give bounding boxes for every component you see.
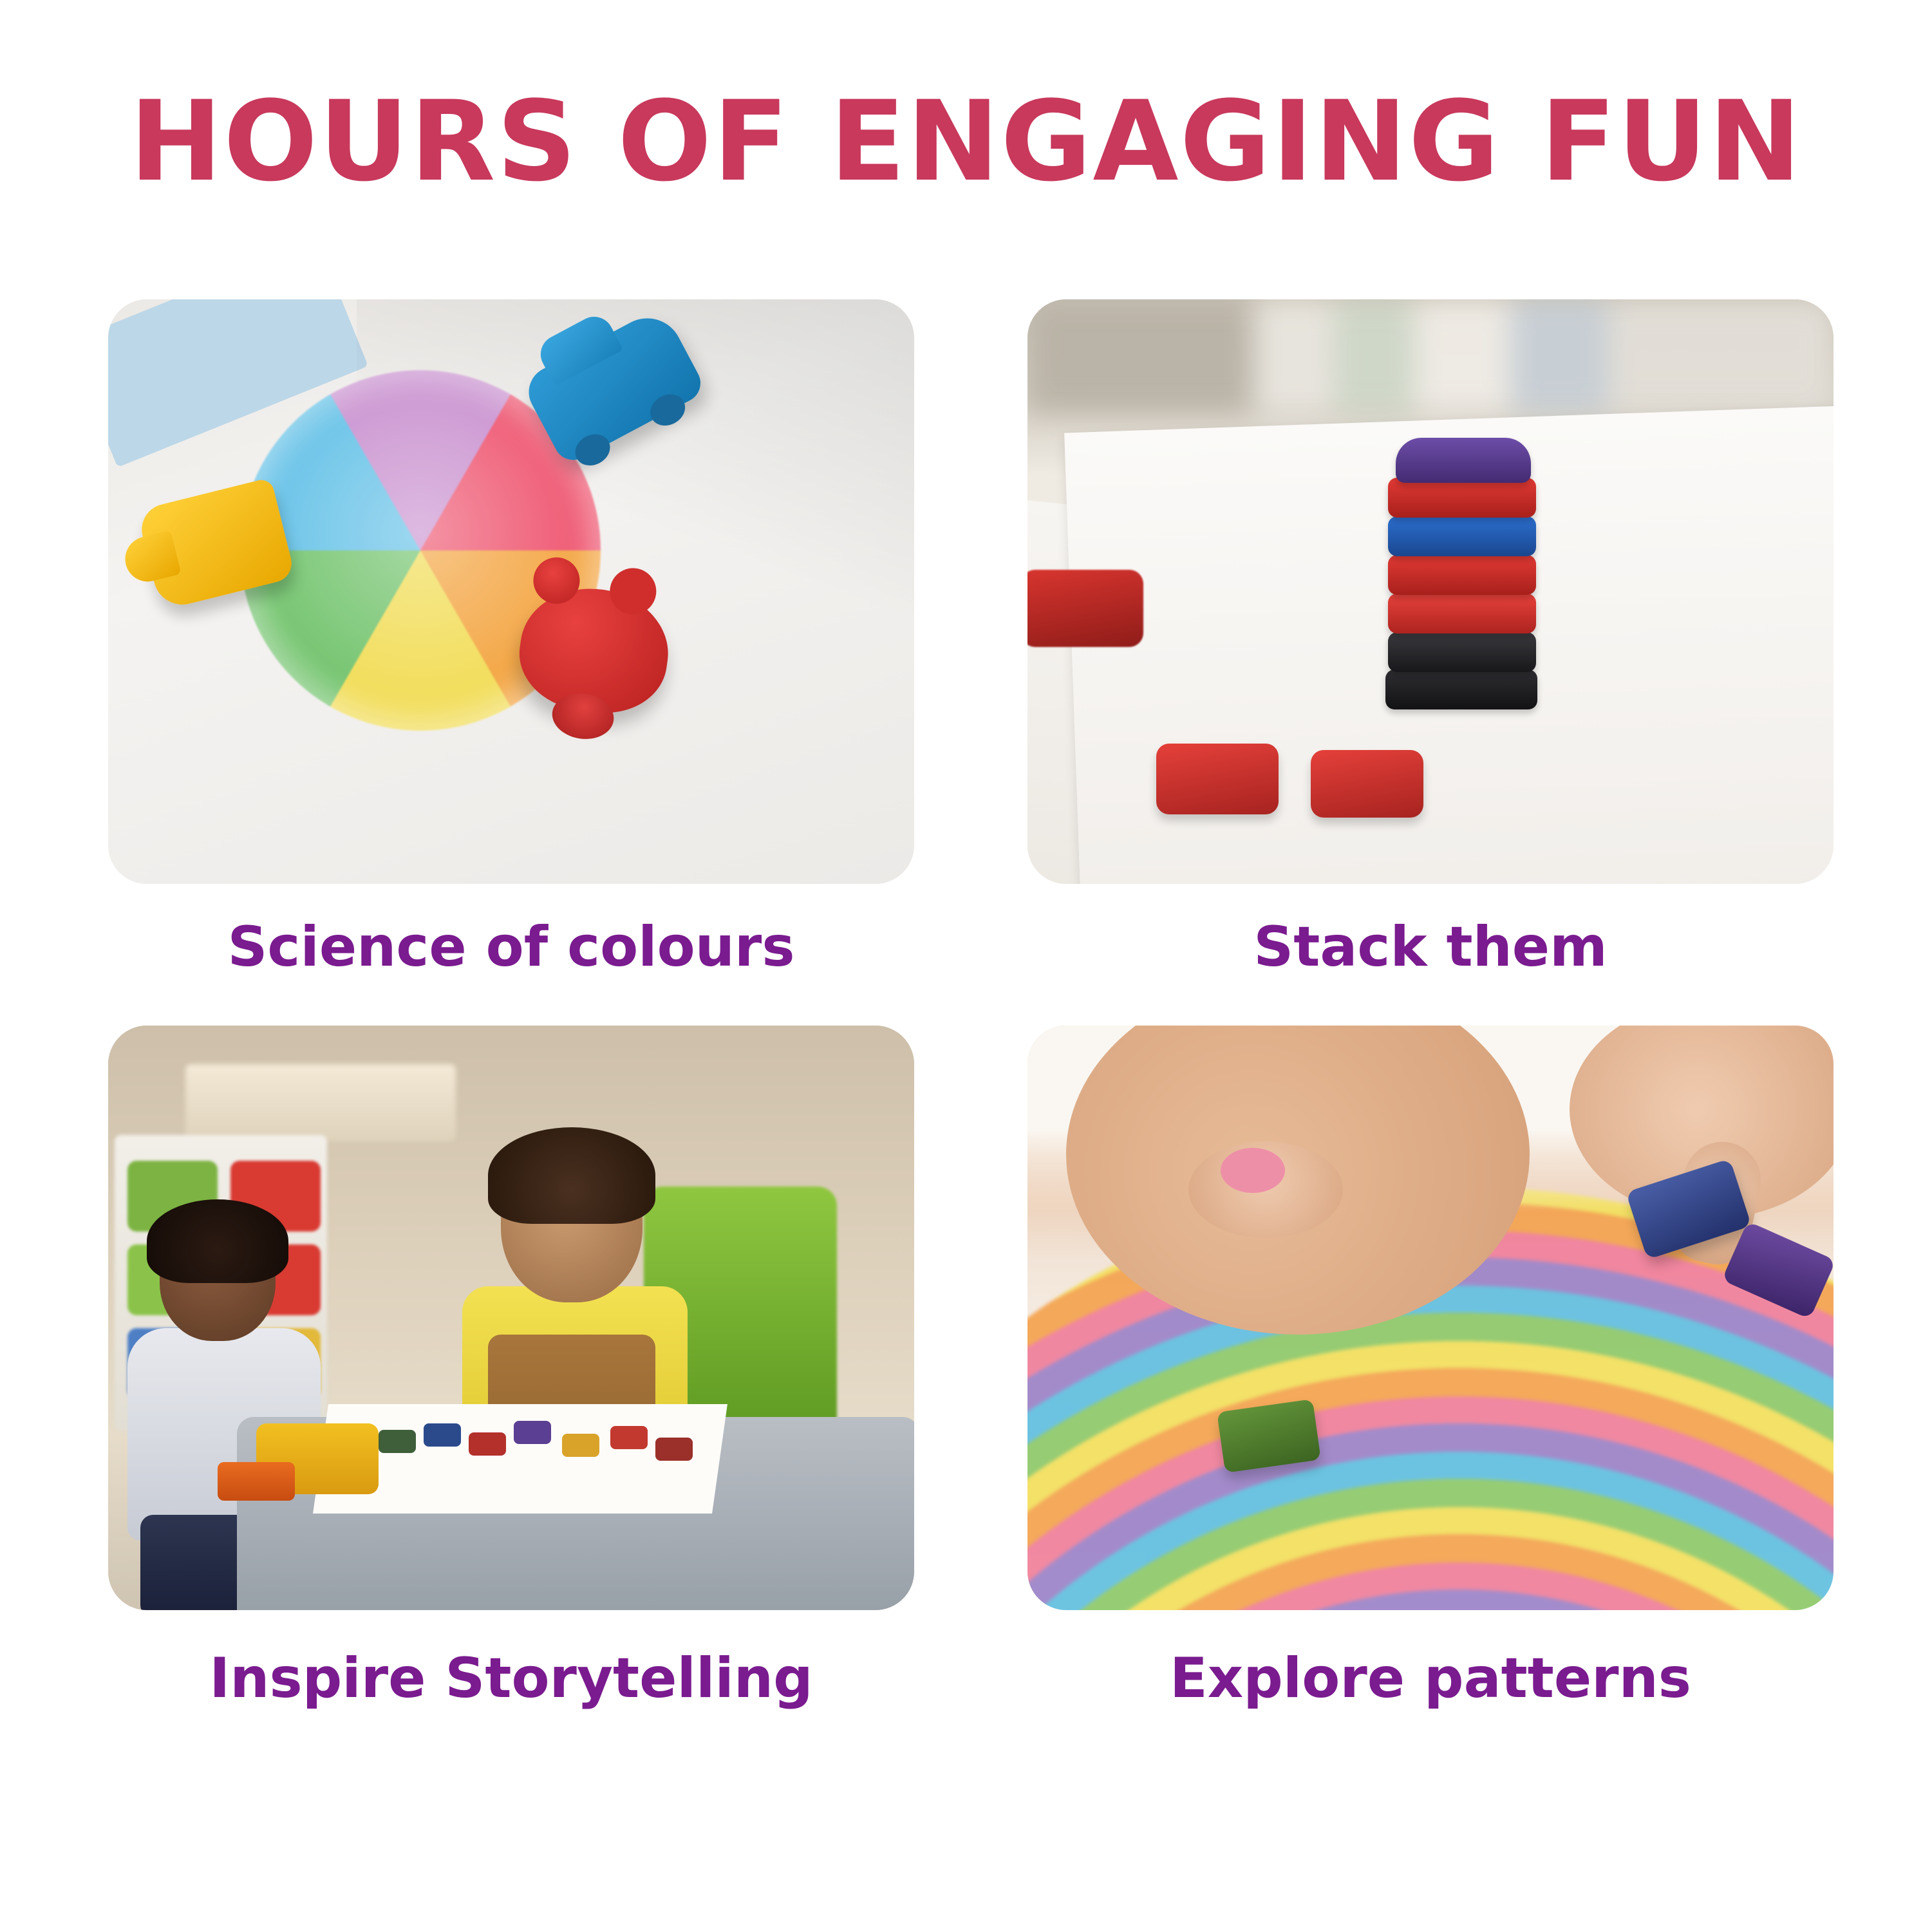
stacked-blocks-icon xyxy=(1388,438,1543,734)
stack-block-red xyxy=(1388,594,1536,633)
children-playing-photo xyxy=(108,1026,914,1610)
red-crayon-block-left xyxy=(1027,570,1143,647)
toy-shelf-top xyxy=(185,1064,456,1141)
rainbow-drawing-photo xyxy=(1027,1026,1834,1610)
feature-tile-stack-them[interactable]: Stack them xyxy=(1027,299,1834,979)
crayon-block xyxy=(514,1421,551,1444)
tile-caption: Inspire Storytelling xyxy=(209,1646,812,1711)
stack-block-red xyxy=(1388,555,1536,595)
feature-grid: Science of colours xyxy=(108,299,1834,1711)
colour-wheel-photo xyxy=(108,299,914,884)
feature-tile-inspire-storytelling[interactable]: Inspire Storytelling xyxy=(108,1026,914,1711)
child-toe xyxy=(1221,1148,1285,1193)
child-left-hair xyxy=(147,1199,288,1283)
crayon-block xyxy=(562,1434,599,1457)
stack-block-black xyxy=(1388,632,1536,672)
red-crayon-block xyxy=(1311,750,1423,818)
crayon-blocks-group xyxy=(379,1417,713,1488)
stack-block-black-base xyxy=(1385,670,1537,709)
feature-tile-science-of-colours[interactable]: Science of colours xyxy=(108,299,914,979)
crayon-block xyxy=(424,1423,461,1447)
stack-block-red xyxy=(1388,478,1536,518)
crayon-block xyxy=(655,1438,693,1461)
feature-tile-explore-patterns[interactable]: Explore patterns xyxy=(1027,1026,1834,1711)
crayon-block xyxy=(469,1432,506,1456)
tile-caption: Stack them xyxy=(1253,915,1607,979)
crayon-block xyxy=(379,1430,416,1453)
child-right-hair xyxy=(488,1127,655,1224)
tile-caption: Science of colours xyxy=(227,915,794,979)
toy-truck-icon xyxy=(256,1423,379,1494)
background-blur-shelf xyxy=(1027,299,1834,412)
crayon-block xyxy=(610,1426,648,1449)
tile-caption: Explore patterns xyxy=(1170,1646,1691,1711)
stack-block-blue xyxy=(1388,516,1536,556)
stacked-crayons-photo xyxy=(1027,299,1834,884)
promo-page: HOURS OF ENGAGING FUN Science of colours xyxy=(0,0,1932,1932)
stack-block-purple xyxy=(1396,438,1531,483)
red-crayon-block xyxy=(1156,744,1279,814)
page-title: HOURS OF ENGAGING FUN xyxy=(0,84,1932,200)
